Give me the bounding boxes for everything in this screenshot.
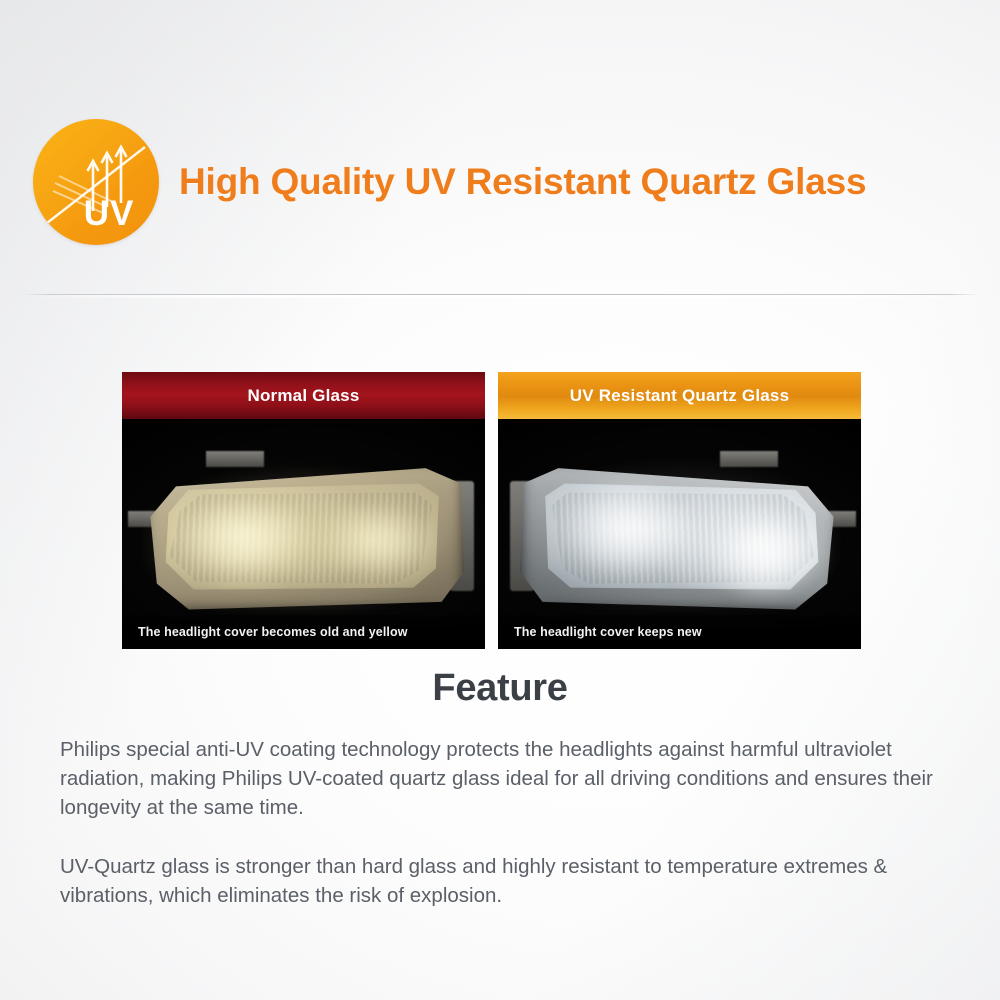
page-header: UV High Quality UV Resistant Quartz Glas… (0, 112, 1000, 252)
headlight-photo-uv-quartz-glass: The headlight cover keeps new (498, 419, 861, 649)
feature-heading: Feature (0, 667, 1000, 710)
header-divider-highlight (22, 295, 978, 298)
comparison-panel-normal-glass: Normal Glass The headlight cover becomes… (122, 372, 485, 649)
uv-badge: UV (33, 119, 159, 245)
product-feature-page: UV High Quality UV Resistant Quartz Glas… (0, 0, 1000, 1000)
feature-paragraph-2: UV-Quartz glass is stronger than hard gl… (60, 852, 953, 910)
comparison-gallery: Normal Glass The headlight cover becomes… (122, 372, 862, 649)
page-title: High Quality UV Resistant Quartz Glass (179, 161, 866, 203)
headlight-clear-illustration (520, 459, 840, 611)
headlight-yellowed-illustration (144, 459, 464, 611)
uv-badge-label: UV (33, 196, 159, 231)
panel-caption-normal-glass: The headlight cover becomes old and yell… (122, 615, 485, 649)
panel-heading-normal-glass: Normal Glass (122, 372, 485, 419)
headlight-photo-normal-glass: The headlight cover becomes old and yell… (122, 419, 485, 649)
comparison-panel-uv-quartz-glass: UV Resistant Quartz Glass The headlight … (498, 372, 861, 649)
panel-caption-uv-quartz-glass: The headlight cover keeps new (498, 615, 861, 649)
feature-paragraph-1: Philips special anti-UV coating technolo… (60, 735, 953, 822)
feature-body: Philips special anti-UV coating technolo… (60, 735, 953, 940)
panel-heading-uv-quartz-glass: UV Resistant Quartz Glass (498, 372, 861, 419)
